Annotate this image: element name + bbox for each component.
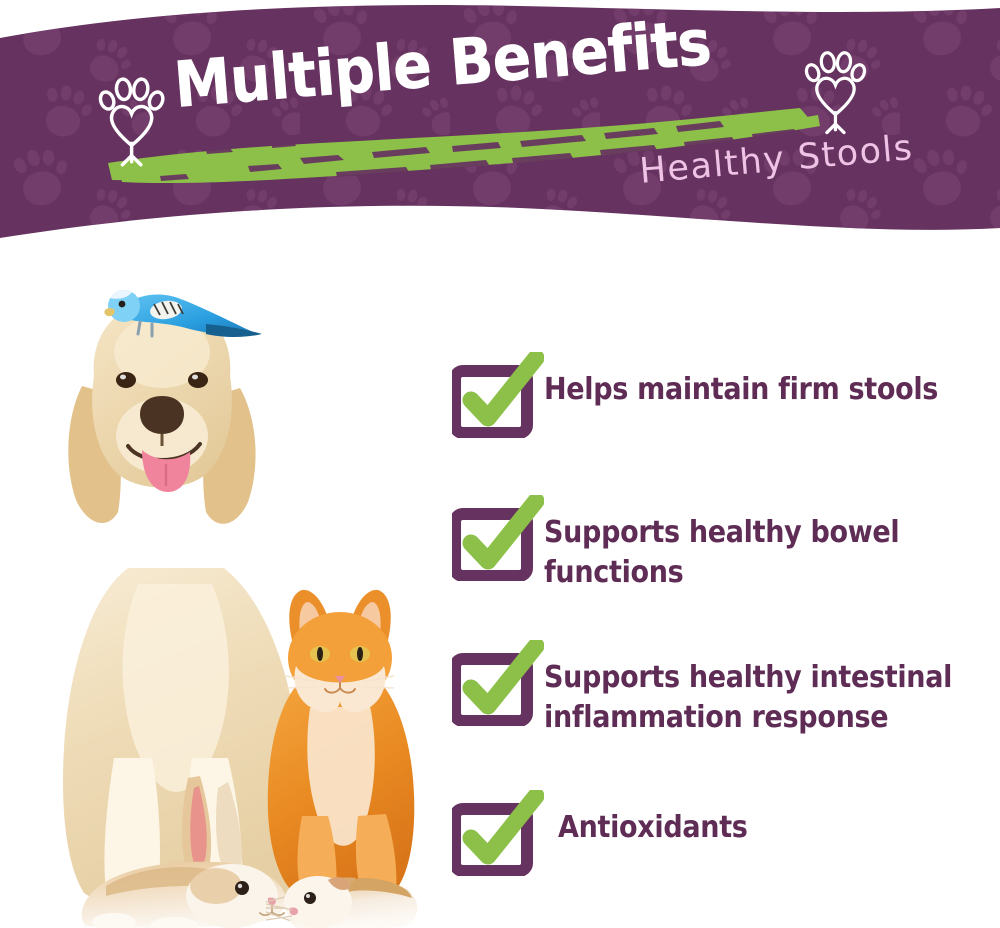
benefit-label: Supports healthy intestinal inflammation… — [544, 640, 952, 738]
header-banner: Multiple Benefits Healthy Stools — [0, 0, 1000, 250]
list-item: Helps maintain firm stools — [452, 352, 938, 438]
list-item: Supports healthy bowel functions — [452, 495, 899, 593]
list-item: Supports healthy intestinal inflammation… — [452, 640, 952, 738]
checked-checkbox-icon — [452, 640, 544, 726]
list-item: Antioxidants — [452, 790, 748, 876]
checked-checkbox-icon — [452, 790, 544, 876]
benefit-label: Supports healthy bowel functions — [544, 495, 899, 593]
benefit-label: Antioxidants — [544, 790, 748, 848]
checked-checkbox-icon — [452, 495, 544, 581]
checked-checkbox-icon — [452, 352, 544, 438]
pets-illustration — [10, 268, 450, 928]
pets-photo — [10, 268, 450, 928]
orange-cat — [268, 590, 415, 906]
benefit-label: Helps maintain firm stools — [544, 352, 938, 410]
